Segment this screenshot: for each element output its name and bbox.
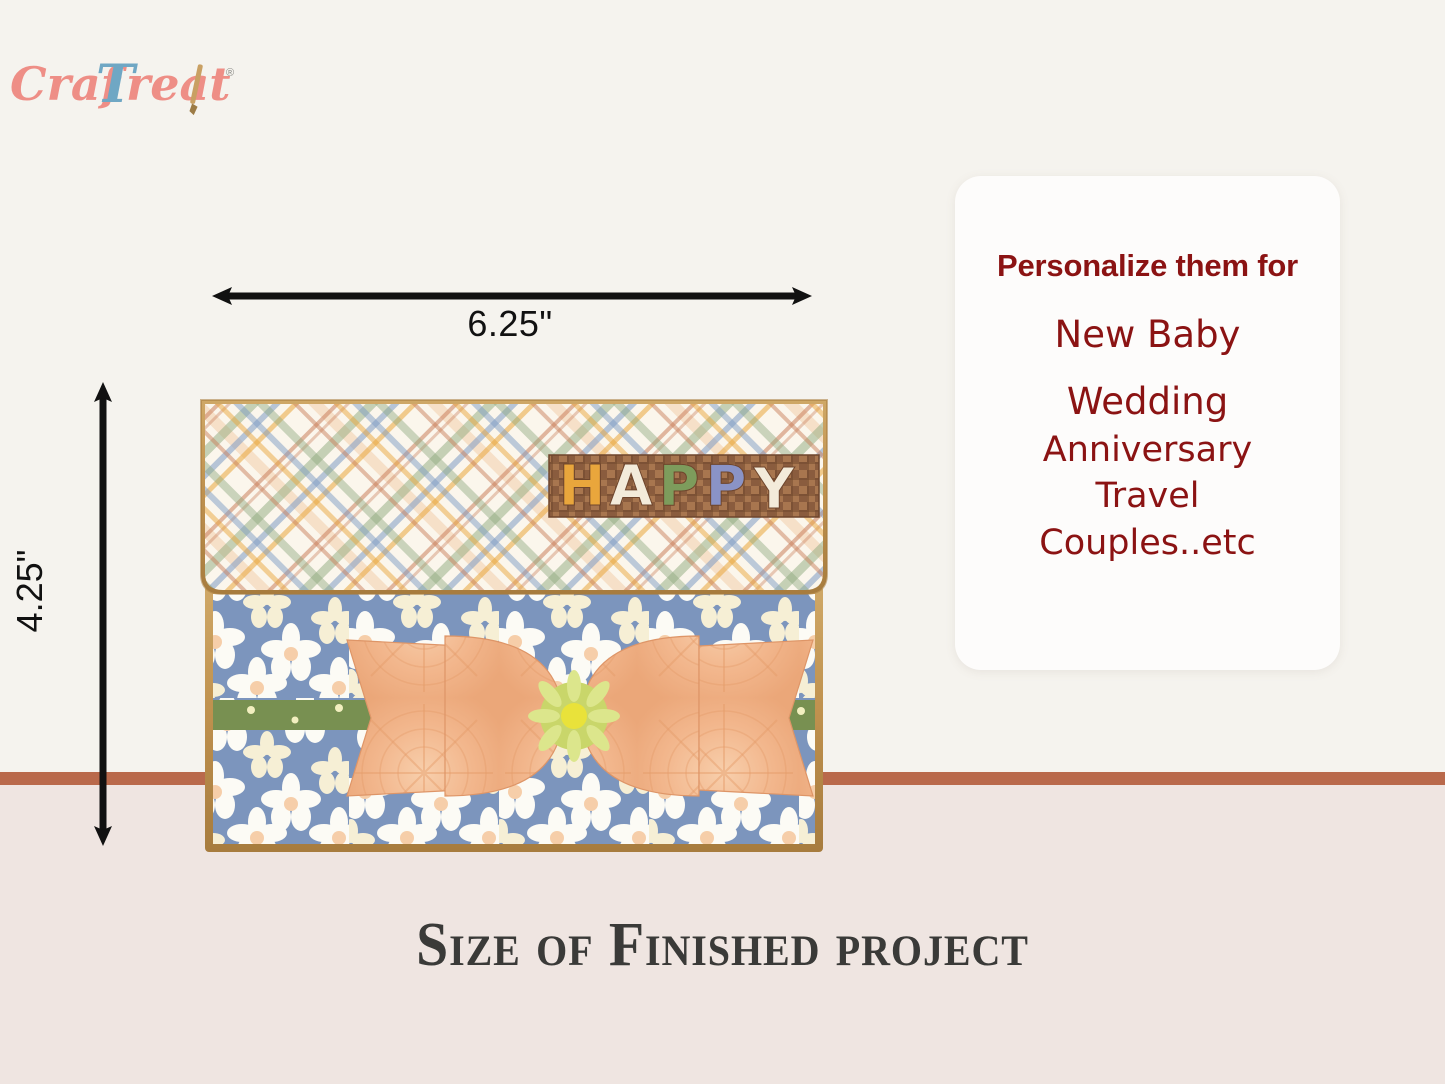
- happy-letter-h: H: [559, 454, 606, 519]
- happy-letter-y: Y: [753, 457, 796, 522]
- craftreat-logo: Craf T reat ®: [8, 52, 258, 122]
- width-dimension-label: 6.25": [410, 303, 610, 345]
- info-list-item: Travel: [1095, 478, 1199, 515]
- bow-center-flower: [528, 670, 620, 762]
- height-dimension-label: 4.25": [9, 511, 51, 671]
- happy-letter-p1: P: [658, 454, 699, 519]
- logo-text-part3: reat: [126, 57, 231, 111]
- envelope-body: [205, 586, 823, 852]
- envelope-flap: H A P P Y: [199, 398, 829, 598]
- happy-banner: H A P P Y: [549, 454, 819, 522]
- info-list-item: Anniversary: [1043, 432, 1252, 469]
- registered-trademark-symbol: ®: [226, 67, 234, 79]
- height-dimension-arrow: [92, 380, 114, 848]
- info-card-title: Personalize them for: [997, 248, 1298, 284]
- finished-project-envelope: H A P P Y: [199, 398, 829, 858]
- personalize-info-card: Personalize them for New Baby Wedding An…: [955, 176, 1340, 670]
- info-list-item: Couples..etc: [1039, 525, 1256, 562]
- info-list-item: Wedding: [1067, 383, 1228, 422]
- page-caption: Size of Finished project: [51, 910, 1395, 981]
- happy-letter-p2: P: [705, 454, 746, 519]
- happy-letter-a: A: [609, 454, 653, 519]
- infographic-canvas: Craf T reat ® 6.25" 4.25": [0, 0, 1445, 1084]
- info-card-list: New Baby Wedding Anniversary Travel Coup…: [955, 316, 1340, 562]
- info-list-item: New Baby: [1055, 316, 1241, 355]
